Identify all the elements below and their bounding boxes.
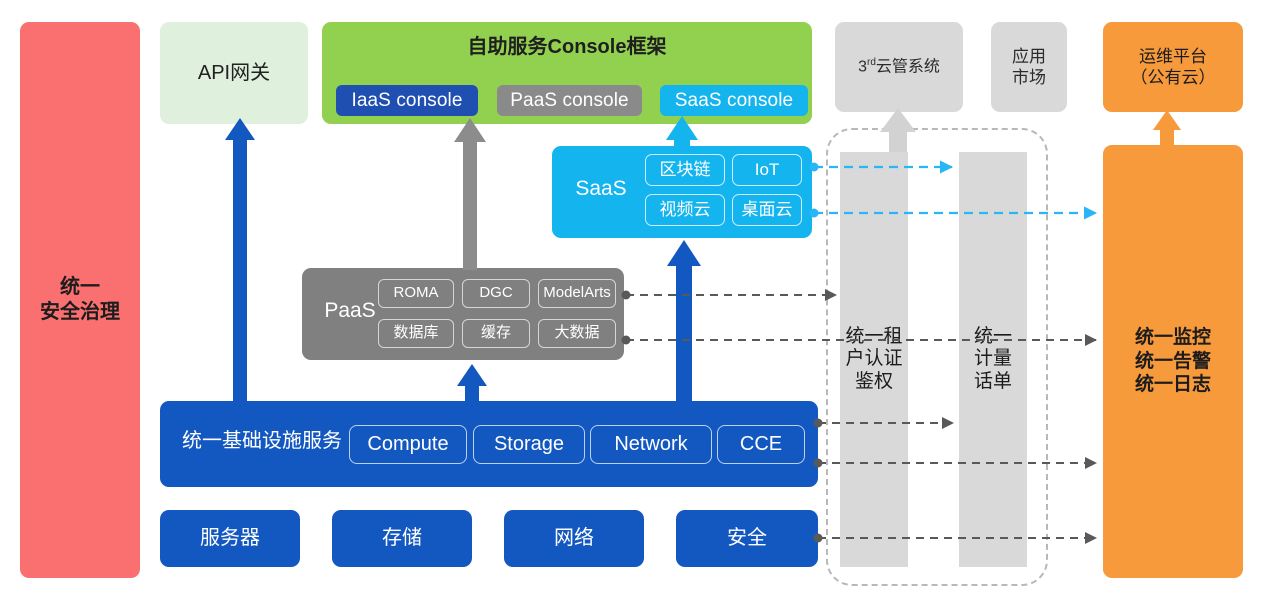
arrow-paas-to-console-frame [454, 118, 486, 270]
arrow-infra-to-paas [457, 364, 487, 404]
arrow-ops-monitor-to-ops-platform [1153, 110, 1181, 147]
link-resources-to-ops-monitor [814, 534, 1097, 543]
link-paas-to-auth [622, 291, 837, 300]
connector-layer [0, 0, 1265, 605]
link-saas-to-ops-monitor [810, 209, 1097, 218]
link-paas-to-ops-monitor [622, 336, 1097, 345]
arrow-infra-to-saas [667, 240, 701, 404]
link-infra-to-meter [814, 419, 954, 428]
arrow-saas-to-saas-console [666, 116, 698, 150]
arrow-infra-to-api-gateway [225, 118, 255, 404]
link-saas-to-meter [810, 163, 953, 172]
architecture-diagram: 统一安全治理 API网关 自助服务Console框架 IaaS console … [0, 0, 1265, 605]
arrow-shared-to-third-party [880, 108, 916, 152]
link-infra-to-ops-monitor [814, 459, 1097, 468]
